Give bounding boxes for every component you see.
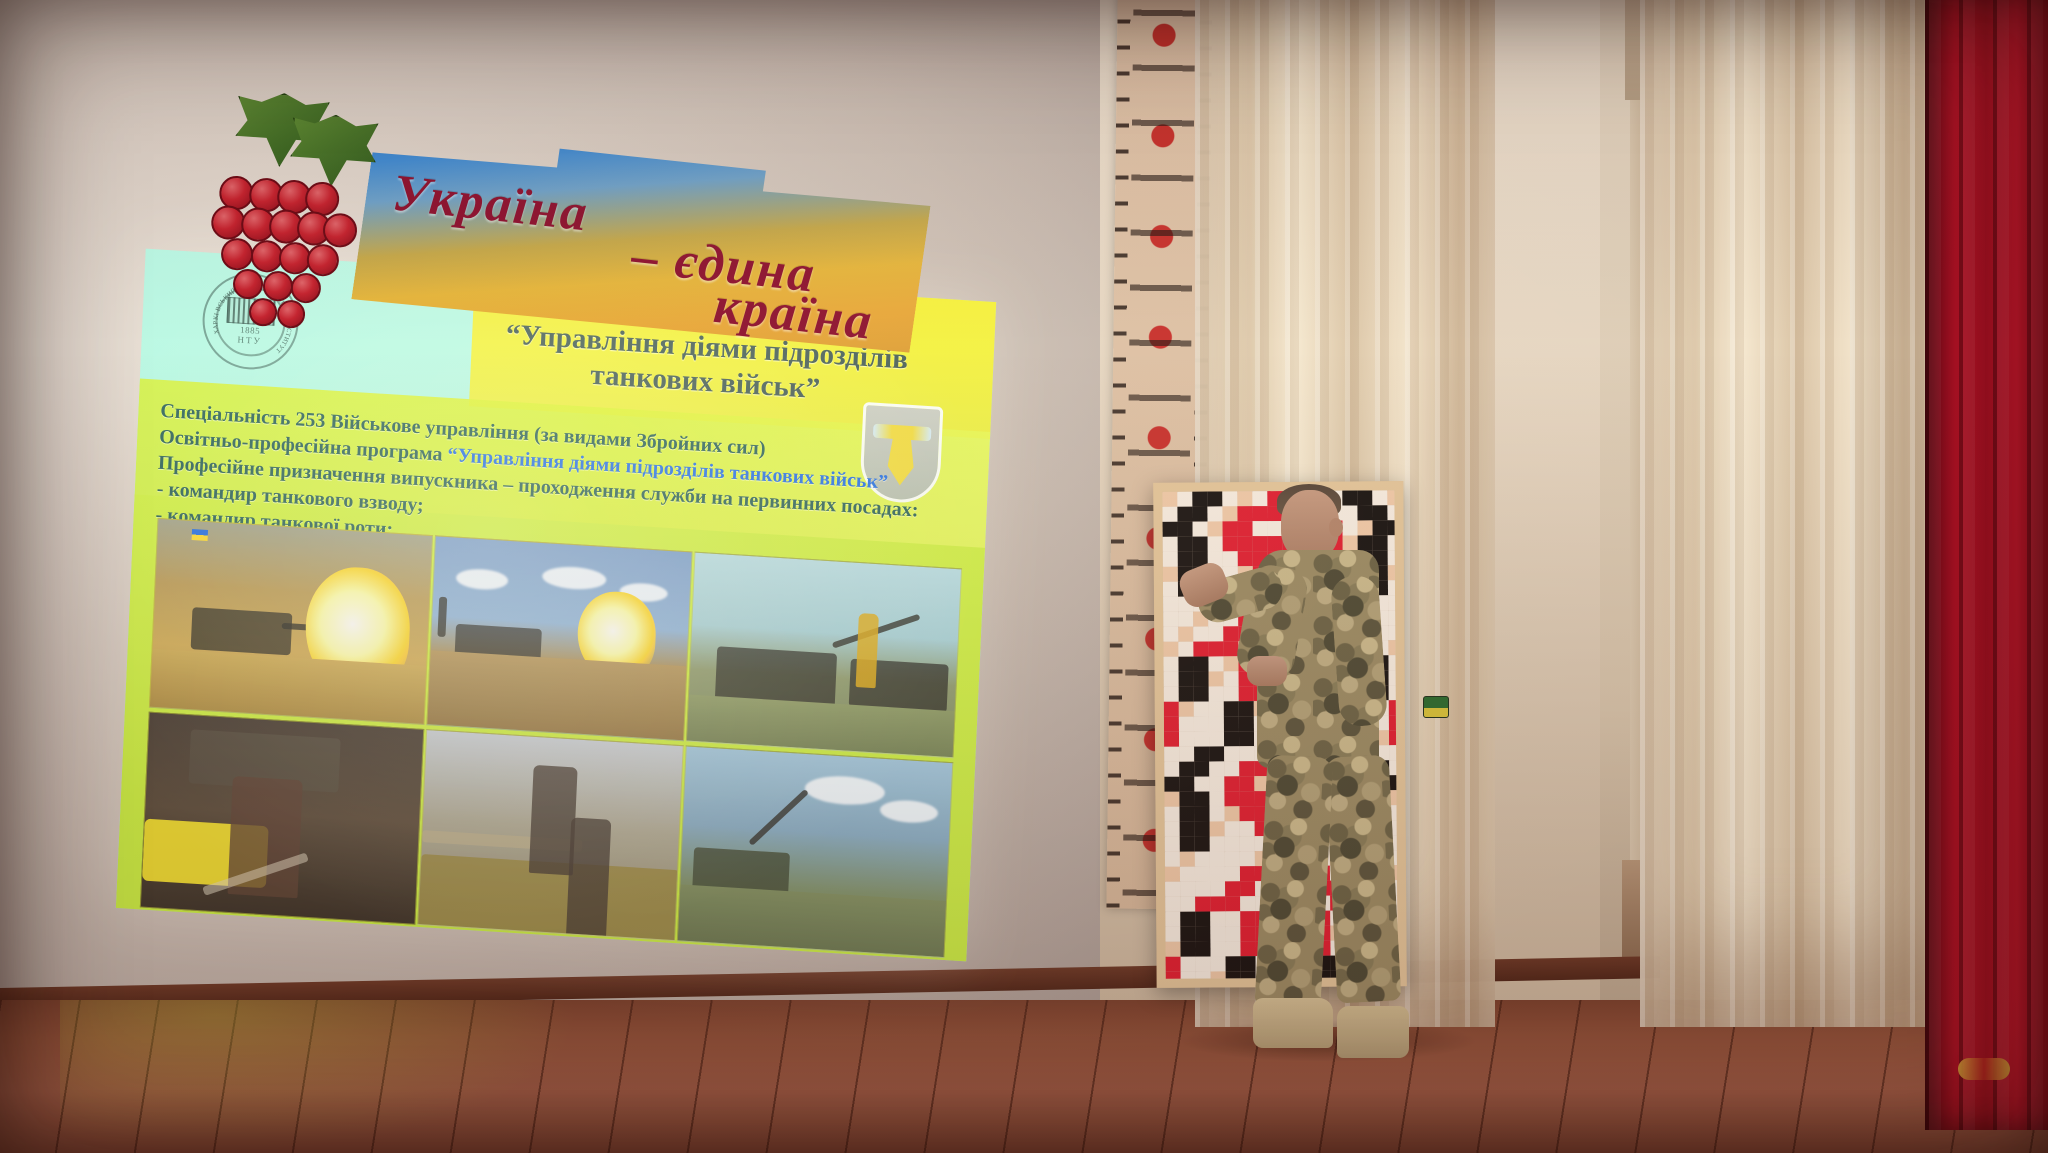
scene-photo: ХАРКІВСЬКИЙ ПОЛІТЕХНІЧНИЙ ІНСТИТУТ 1885 … (0, 0, 2048, 1153)
speaker-right-leg (1325, 754, 1402, 1003)
grape-berry (276, 299, 306, 329)
embroidery-stitch (1164, 792, 1179, 807)
embroidery-stitch (1166, 972, 1181, 987)
embroidery-stitch (1164, 777, 1179, 792)
embroidery-stitch (1165, 867, 1180, 882)
cloud-icon (880, 799, 939, 825)
antenna (437, 597, 447, 637)
embroidery-stitch (1163, 597, 1178, 612)
embroidery-stitch (1164, 717, 1179, 732)
embroidery-stitch (1165, 822, 1180, 837)
crew-member (856, 613, 879, 688)
photo-tank-interior (140, 712, 424, 925)
soldier-working (566, 817, 611, 937)
embroidery-stitch (1163, 657, 1178, 672)
range-ground (427, 650, 686, 740)
tank-shape (191, 607, 293, 655)
embroidery-stitch (1164, 672, 1179, 687)
embroidery-stitch (1166, 987, 1181, 988)
photo-tank-firing-range (426, 535, 692, 741)
tank-barrel (748, 789, 809, 846)
speaker-right-boot (1337, 1006, 1409, 1058)
photo-tank-firing-field (149, 518, 433, 725)
embroidery-stitch (1163, 522, 1178, 537)
cloud-icon (804, 774, 885, 807)
photo-tanks-lineup (686, 552, 962, 759)
ukraine-flag-icon (192, 529, 208, 541)
embroidery-stitch (1165, 912, 1180, 927)
embroidery-stitch (1165, 852, 1180, 867)
embroidery-stitch (1163, 642, 1178, 657)
grape-berry (290, 272, 322, 304)
grape-berry (306, 243, 340, 277)
embroidery-stitch (1163, 537, 1178, 552)
embroidery-stitch (1163, 567, 1178, 582)
embroidery-stitch (1164, 687, 1179, 702)
speaker-left-boot (1253, 998, 1333, 1048)
banner-word-3: країна (711, 276, 876, 352)
banner-word-1: Україна (390, 164, 592, 244)
embroidery-stitch (1165, 882, 1180, 897)
cloud-icon (456, 568, 509, 591)
embroidery-stitch (1164, 747, 1179, 762)
embroidery-stitch (1162, 492, 1177, 507)
grape-berry (262, 270, 294, 302)
photo-maintenance-hangar (417, 729, 683, 941)
grape-berry (248, 297, 278, 327)
embroidery-stitch (1163, 627, 1178, 642)
projector-floor-glow (60, 1000, 580, 1153)
embroidery-stitch (1165, 927, 1180, 942)
embroidery-stitch (1166, 957, 1181, 972)
speaker-ear (1329, 518, 1343, 537)
speaker-right-arm (1330, 575, 1388, 728)
sheer-curtain-right (1640, 0, 1940, 1027)
curtain-tassel (1958, 1058, 2010, 1080)
embroidery-stitch (1165, 837, 1180, 852)
cloud-icon (542, 565, 607, 591)
grape-berry (232, 268, 264, 300)
grape-berry (322, 212, 358, 248)
embroidery-stitch (1164, 702, 1179, 717)
grape-leaf-icon (288, 112, 379, 190)
grape-cluster-decoration-icon (204, 89, 410, 342)
stage-curtain-red (1925, 0, 2048, 1130)
embroidery-stitch (1163, 552, 1178, 567)
embroidery-stitch (1165, 942, 1180, 957)
embroidery-stitch (1164, 762, 1179, 777)
embroidery-stitch (1165, 897, 1180, 912)
photo-tank-outdoors (677, 745, 953, 958)
embroidery-stitch (1163, 612, 1178, 627)
grape-berry (220, 237, 254, 271)
speaker-hand-lower (1247, 656, 1287, 686)
uniform-flag-patch-icon (1423, 696, 1449, 718)
embroidery-stitch (1165, 807, 1180, 822)
embroidery-stitch (1163, 582, 1178, 597)
embroidery-stitch (1162, 507, 1177, 522)
embroidery-stitch (1164, 732, 1179, 747)
presenter-soldier (1185, 478, 1455, 1093)
speaker-left-leg (1254, 754, 1333, 1009)
